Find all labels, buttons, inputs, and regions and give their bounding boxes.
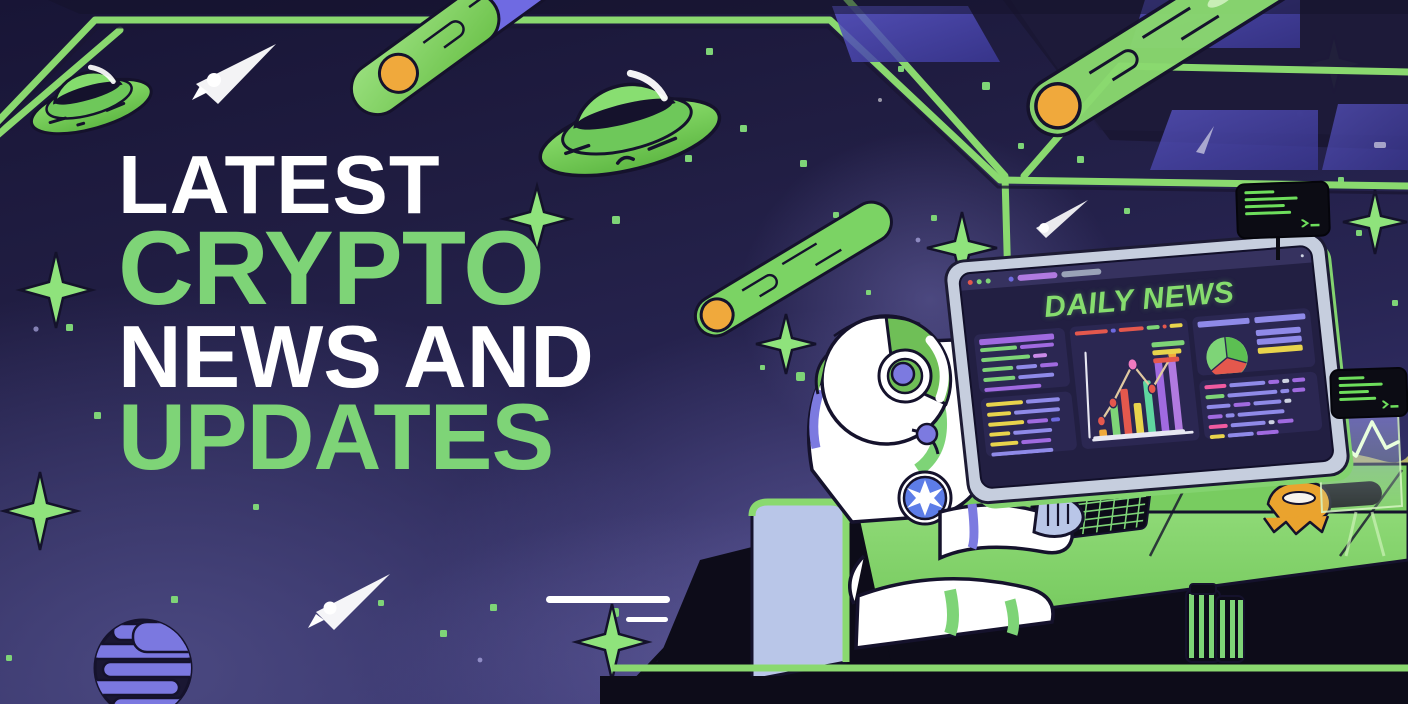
tab-favicon-dot (1008, 276, 1014, 281)
tab-inactive[interactable] (1061, 268, 1102, 277)
terminal-bottom[interactable] (1329, 367, 1408, 420)
article-list-purple[interactable] (973, 328, 1070, 394)
dashboard-left-column (973, 328, 1077, 458)
close-dot-red[interactable] (967, 279, 973, 284)
page-title: LATEST CRYPTO NEWS AND UPDATES (118, 146, 678, 481)
hero-banner: LATEST CRYPTO NEWS AND UPDATES DAILY NEW… (0, 0, 1408, 704)
terminal-cursor-icon (1301, 219, 1319, 228)
tab-active[interactable] (1017, 272, 1058, 281)
terminal-top-stand (1276, 236, 1280, 260)
headline-line-2: CRYPTO (118, 219, 678, 319)
chrome-menu-dot[interactable] (1301, 254, 1304, 257)
maximize-dot-green[interactable] (985, 278, 991, 283)
allocation-pie[interactable] (1192, 308, 1316, 376)
dashboard-body (966, 307, 1330, 464)
market-chart[interactable] (1069, 318, 1200, 450)
minimize-dot-green[interactable] (976, 279, 982, 284)
stats-list-yellow[interactable] (980, 391, 1077, 457)
computer-monitor: DAILY NEWS (946, 234, 1349, 503)
headline-line-4: UPDATES (118, 392, 678, 481)
terminal-top[interactable] (1235, 180, 1331, 239)
terminal-cursor-icon-2 (1382, 400, 1398, 409)
monitor-screen: DAILY NEWS (958, 244, 1336, 489)
ticker-table[interactable] (1199, 371, 1323, 439)
dashboard-right-column (1192, 308, 1323, 440)
